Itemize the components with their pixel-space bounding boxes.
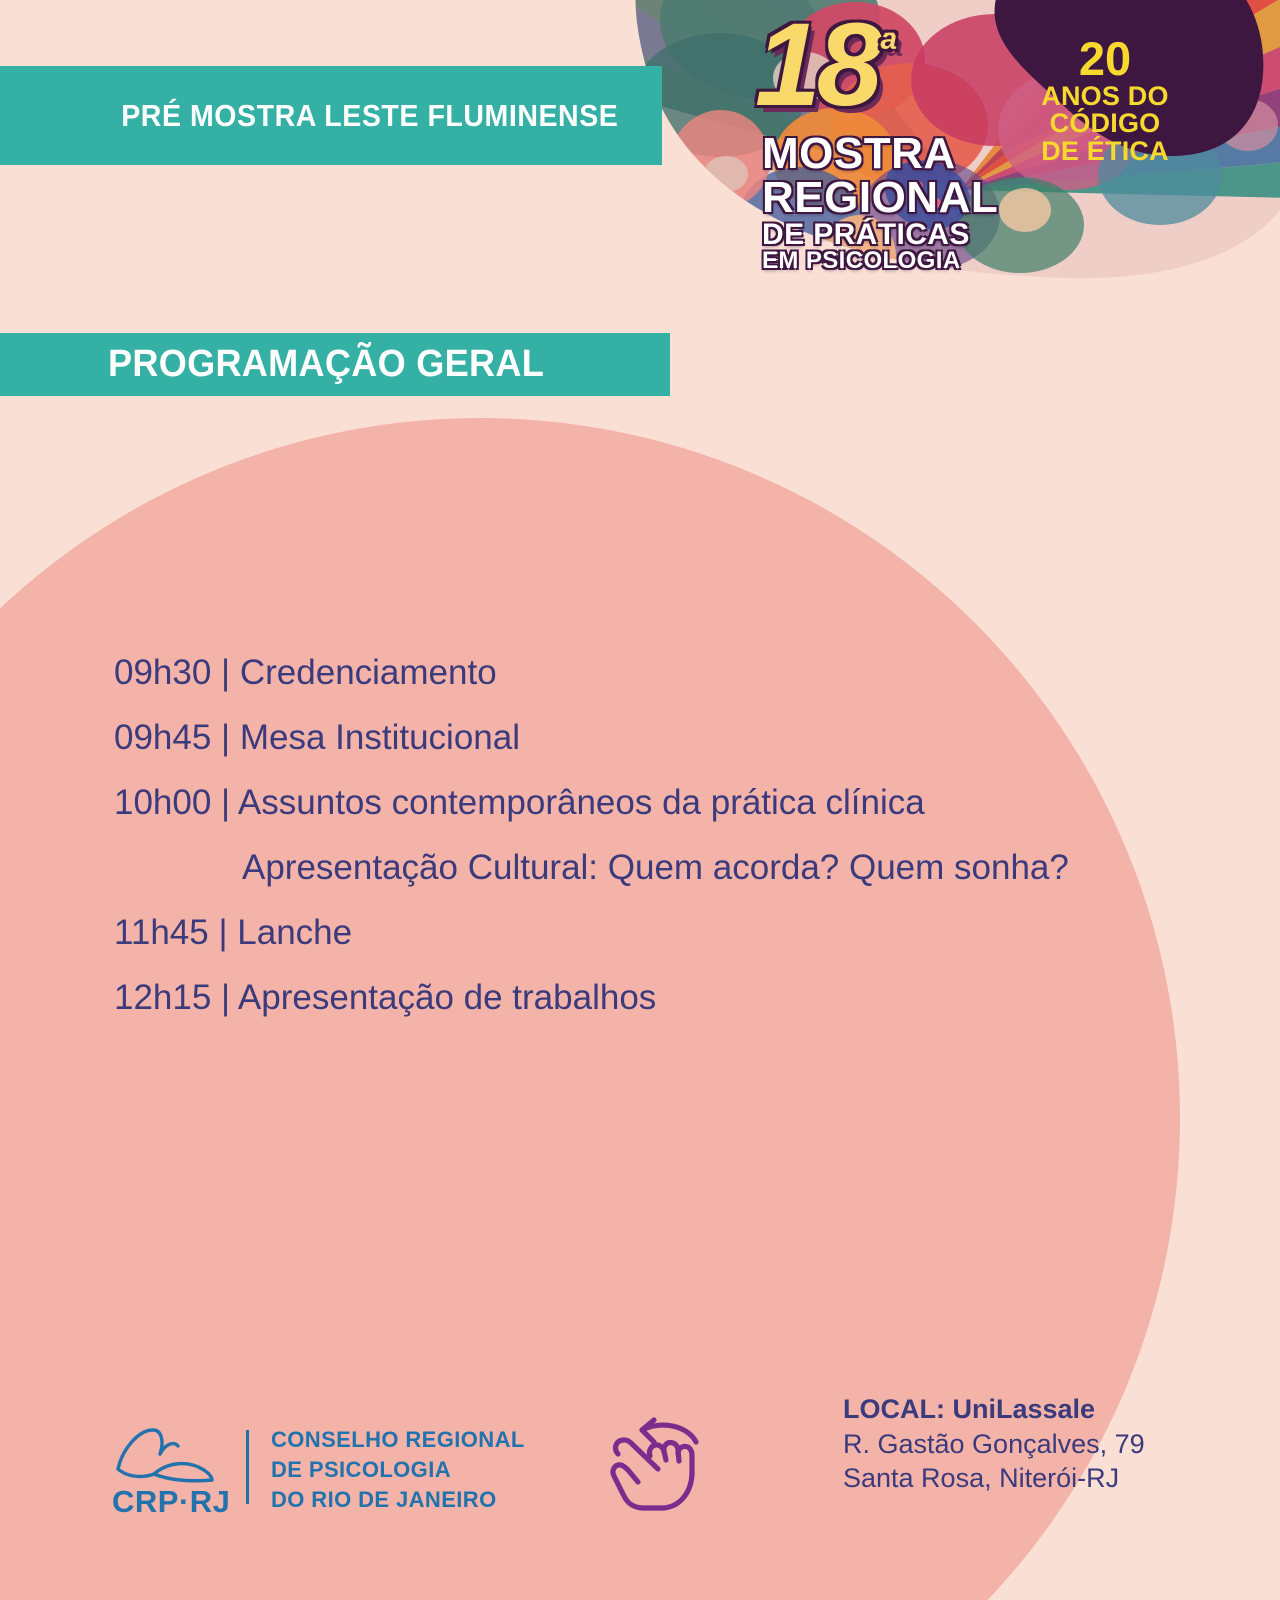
- location-venue: UniLassale: [953, 1394, 1096, 1424]
- ethics-anniversary-badge: 20 ANOS DO CÓDIGO DE ÉTICA: [1010, 35, 1200, 166]
- logo-line-regional: REGIONAL: [762, 177, 998, 219]
- logo-line-mostra: MOSTRA: [762, 133, 956, 175]
- crp-name-line-2: DE PSICOLOGIA: [271, 1455, 525, 1485]
- location-label: LOCAL:: [843, 1394, 945, 1424]
- edition-ordinal: ª: [878, 23, 895, 75]
- ethics-line-3: DE ÉTICA: [1010, 138, 1200, 166]
- crp-rj-logo: CRP·RJ CONSELHO REGIONAL DE PSICOLOGIA D…: [112, 1422, 525, 1518]
- crp-full-name: CONSELHO REGIONAL DE PSICOLOGIA DO RIO D…: [271, 1425, 525, 1515]
- logo-line-psicologia: EM PSICOLOGIA: [762, 250, 961, 273]
- crp-name-line-1: CONSELHO REGIONAL: [271, 1425, 525, 1455]
- location-venue-line: LOCAL: UniLassale: [843, 1392, 1145, 1427]
- crp-name-line-3: DO RIO DE JANEIRO: [271, 1485, 525, 1515]
- schedule-item: 11h45 | Lanche: [114, 915, 1114, 950]
- crp-acronym: CRP·RJ: [112, 1484, 230, 1520]
- swipe-left-hand-icon: [596, 1412, 716, 1524]
- location-district: Santa Rosa, Niterói-RJ: [843, 1461, 1145, 1496]
- schedule-item: 09h45 | Mesa Institucional: [114, 720, 1114, 755]
- ethics-years: 20: [1010, 35, 1200, 83]
- event-poster: 18ª MOSTRA REGIONAL DE PRÁTICAS EM PSICO…: [0, 0, 1280, 1600]
- crp-logo-divider: [246, 1430, 249, 1504]
- schedule-item: 09h30 | Credenciamento: [114, 655, 1114, 690]
- ethics-line-1: ANOS DO: [1010, 83, 1200, 111]
- edition-number-value: 18: [755, 0, 878, 131]
- programacao-geral-label: PROGRAMAÇÃO GERAL: [108, 343, 544, 386]
- schedule-list: 09h30 | Credenciamento 09h45 | Mesa Inst…: [114, 655, 1114, 1045]
- crp-bird-book-icon: CRP·RJ: [112, 1422, 220, 1518]
- schedule-item: 10h00 | Assuntos contemporâneos da práti…: [114, 785, 1114, 820]
- schedule-item: Apresentação Cultural: Quem acorda? Quem…: [114, 850, 1114, 885]
- location-info: LOCAL: UniLassale R. Gastão Gonçalves, 7…: [843, 1392, 1145, 1496]
- ethics-line-2: CÓDIGO: [1010, 110, 1200, 138]
- pre-mostra-banner: PRÉ MOSTRA LESTE FLUMINENSE: [0, 66, 662, 165]
- location-street: R. Gastão Gonçalves, 79: [843, 1427, 1145, 1462]
- pre-mostra-banner-label: PRÉ MOSTRA LESTE FLUMINENSE: [121, 98, 618, 134]
- schedule-item: 12h15 | Apresentação de trabalhos: [114, 980, 1114, 1015]
- logo-line-praticas: DE PRÁTICAS: [762, 221, 970, 250]
- edition-number: 18ª: [755, 6, 895, 124]
- programacao-geral-banner: PROGRAMAÇÃO GERAL: [0, 333, 670, 396]
